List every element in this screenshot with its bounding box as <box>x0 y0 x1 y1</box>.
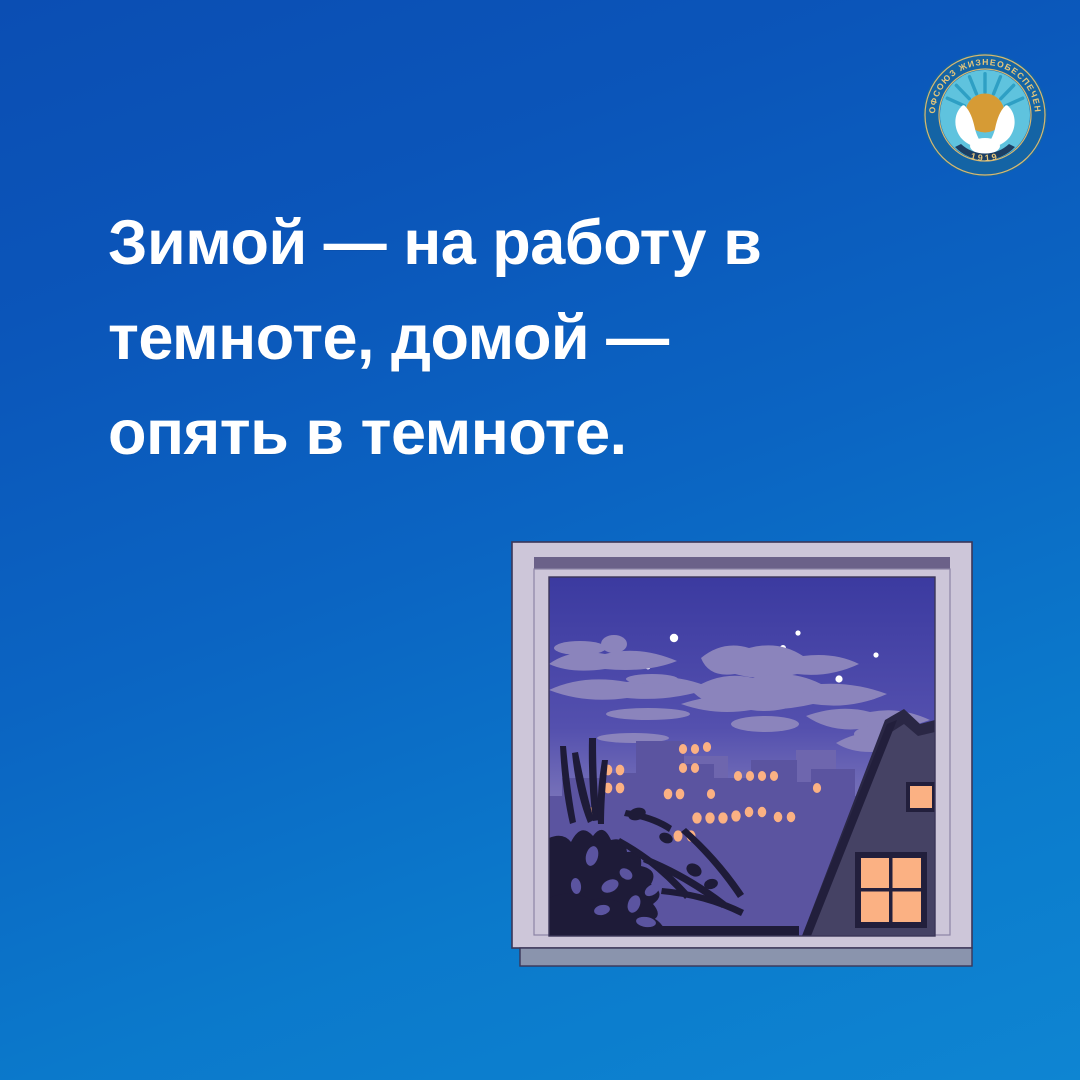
organization-logo: 1919 ПРОФСОЮЗ ЖИЗНЕОБЕСПЕЧЕНИЯ <box>915 45 1055 185</box>
cloud-shape <box>798 689 878 703</box>
poster-canvas: 1919 ПРОФСОЮЗ ЖИЗНЕОБЕСПЕЧЕНИЯ Зимой — н… <box>0 0 1080 1080</box>
window-header-band <box>534 557 950 569</box>
star-icon <box>670 634 678 642</box>
house-window-mullion-horizontal <box>861 888 921 892</box>
cloud-shape <box>626 674 678 684</box>
cloud-shape <box>606 708 690 720</box>
night-window-illustration <box>506 538 978 978</box>
star-icon <box>835 675 842 682</box>
house-attic-window-light <box>910 786 932 808</box>
headline-line-2: темноте, домой — <box>108 291 938 386</box>
star-icon <box>795 630 800 635</box>
headline-text: Зимой — на работу в темноте, домой — опя… <box>108 196 938 481</box>
cloud-shape <box>601 635 627 653</box>
headline-line-3: опять в темноте. <box>108 386 938 481</box>
window-sill <box>520 948 972 966</box>
headline-line-1: Зимой — на работу в <box>108 196 938 291</box>
window-glass-pane <box>549 577 939 964</box>
star-icon <box>873 652 878 657</box>
cloud-shape <box>731 716 799 732</box>
logo-emblem-icon: 1919 ПРОФСОЮЗ ЖИЗНЕОБЕСПЕЧЕНИЯ <box>915 45 1055 185</box>
